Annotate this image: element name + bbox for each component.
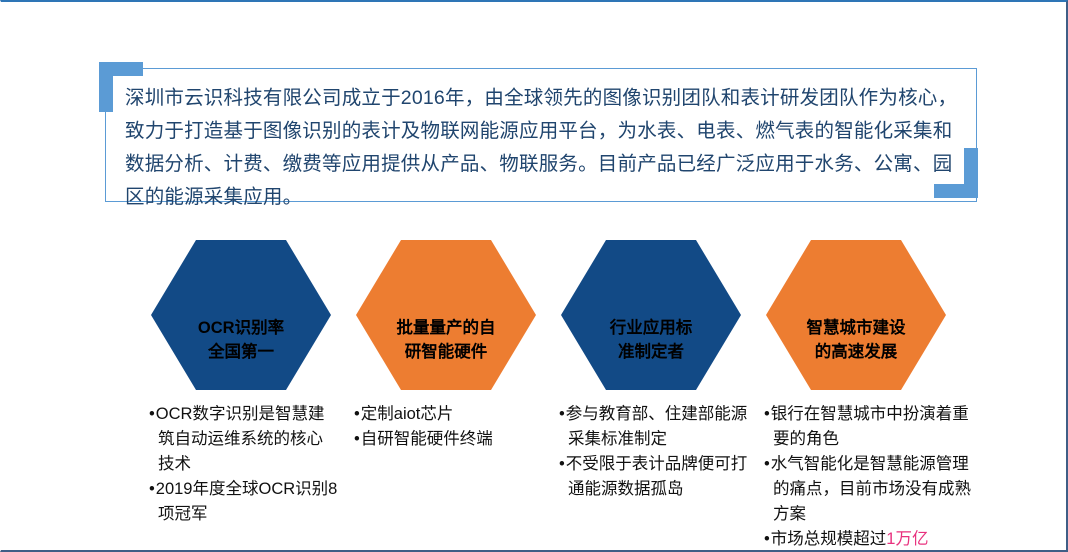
- market-size-prefix: 市场总规模超过: [771, 530, 887, 548]
- list-item: OCR数字识别是智慧建筑自动运维系统的核心技术: [149, 402, 339, 477]
- slide-canvas: 深圳市云识科技有限公司成立于2016年，由全球领先的图像识别团队和表计研发团队作…: [0, 0, 1068, 552]
- list-item: 自研智能硬件终端: [354, 427, 549, 452]
- hexagon-ocr-accuracy[interactable]: OCR识别率 全国第一: [151, 240, 331, 390]
- hexagon-standard-maker[interactable]: 行业应用标 准制定者: [561, 240, 741, 390]
- bullet-column-standard-maker: 参与教育部、住建部能源采集标准制定 不受限于表计品牌便可打通能源数据孤岛: [559, 402, 749, 502]
- hexagon-label-line: 准制定者: [618, 340, 684, 364]
- corner-bracket-top-left-vertical: [99, 62, 113, 112]
- list-item: 2019年度全球OCR识别8项冠军: [149, 477, 339, 527]
- corner-bracket-bottom-right-vertical: [964, 148, 978, 198]
- market-size-highlight: 1万亿: [886, 530, 928, 548]
- list-item: 水气智能化是智慧能源管理的痛点，目前市场没有成熟方案: [764, 452, 979, 527]
- bullet-column-ocr-accuracy: OCR数字识别是智慧建筑自动运维系统的核心技术 2019年度全球OCR识别8项冠…: [149, 402, 339, 527]
- list-item: 银行在智慧城市中扮演着重要的角色: [764, 402, 979, 452]
- list-item: 不受限于表计品牌便可打通能源数据孤岛: [559, 452, 749, 502]
- hexagon-label-line: 全国第一: [208, 340, 274, 364]
- company-intro-paragraph: 深圳市云识科技有限公司成立于2016年，由全球领先的图像识别团队和表计研发团队作…: [125, 82, 961, 214]
- hexagon-label-line: 批量量产的自: [397, 316, 496, 340]
- list-item: 定制aiot芯片: [354, 402, 549, 427]
- list-item: 参与教育部、住建部能源采集标准制定: [559, 402, 749, 452]
- bullet-column-smart-city: 银行在智慧城市中扮演着重要的角色 水气智能化是智慧能源管理的痛点，目前市场没有成…: [764, 402, 979, 552]
- bullet-columns-row: OCR数字识别是智慧建筑自动运维系统的核心技术 2019年度全球OCR识别8项冠…: [1, 402, 1068, 552]
- hexagon-highlight-row: OCR识别率 全国第一 批量量产的自 研智能硬件 行业应用标 准制定者 智慧城市…: [1, 240, 1068, 392]
- bullet-column-self-developed-hardware: 定制aiot芯片 自研智能硬件终端: [354, 402, 549, 452]
- hexagon-label-line: OCR识别率: [198, 316, 284, 340]
- hexagon-smart-city[interactable]: 智慧城市建设 的高速发展: [766, 240, 946, 390]
- hexagon-label-line: 智慧城市建设: [807, 316, 906, 340]
- hexagon-self-developed-hardware[interactable]: 批量量产的自 研智能硬件: [356, 240, 536, 390]
- hexagon-label-line: 的高速发展: [815, 340, 898, 364]
- hexagon-label-line: 行业应用标: [610, 316, 693, 340]
- hexagon-label-line: 研智能硬件: [405, 340, 488, 364]
- list-item-market-size: 市场总规模超过1万亿: [764, 527, 979, 552]
